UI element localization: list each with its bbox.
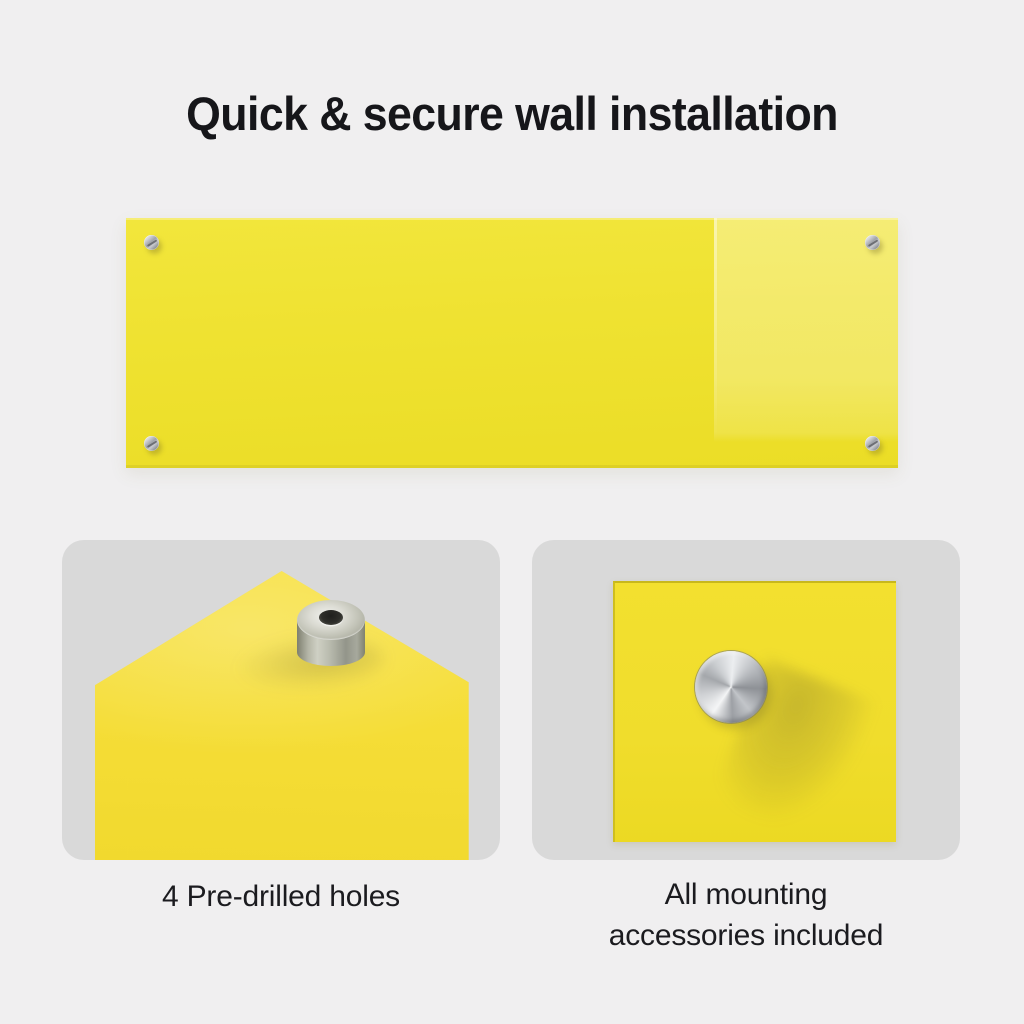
panel-face-closeup — [613, 581, 896, 842]
page-title: Quick & secure wall installation — [26, 84, 999, 144]
caption-line: 4 Pre-drilled holes — [62, 876, 500, 917]
mounting-screw-cap-bottom-left — [144, 436, 159, 451]
detail-card-row — [0, 540, 1024, 870]
caption-pre-drilled-holes: 4 Pre-drilled holes — [62, 876, 500, 917]
panel-reflection-highlight — [714, 218, 898, 442]
mounting-screw-cap-top-left — [144, 235, 159, 250]
caption-line: accessories included — [532, 915, 960, 956]
hero-product-image — [126, 218, 898, 468]
standoff-screw-hole — [319, 610, 343, 625]
caption-line: All mounting — [532, 874, 960, 915]
detail-card-mounting-accessories — [532, 540, 960, 860]
detail-card-pre-drilled-holes — [62, 540, 500, 860]
mounting-screw-cap-top-right — [865, 235, 880, 250]
mounting-screw-cap-bottom-right — [865, 436, 880, 451]
panel-bottom-edge-shadow — [126, 465, 898, 468]
yellow-glass-panel — [126, 218, 898, 468]
infographic-stage: Quick & secure wall installation — [0, 0, 1024, 1024]
caption-mounting-accessories: All mounting accessories included — [532, 874, 960, 956]
brushed-metal-cap-cover — [695, 651, 767, 723]
cylindrical-standoff-spacer — [297, 600, 365, 666]
panel-top-edge-highlight — [126, 218, 898, 220]
